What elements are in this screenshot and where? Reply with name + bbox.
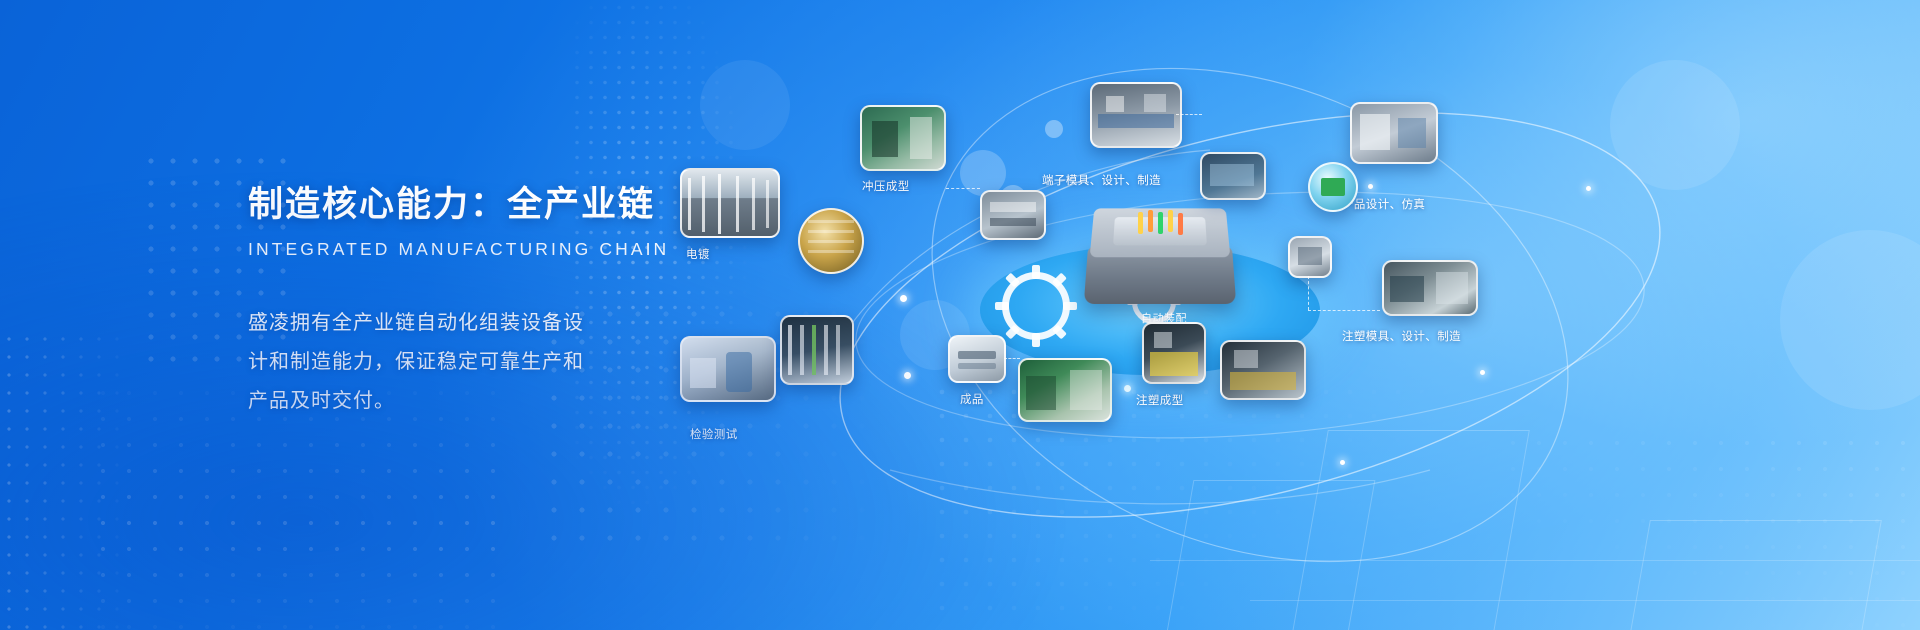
node-label: 检验测试 bbox=[690, 426, 776, 442]
node-photo bbox=[680, 336, 776, 402]
connector-dashed bbox=[1004, 358, 1020, 359]
horizon-line bbox=[1250, 600, 1920, 601]
node-label: 产品设计、仿真 bbox=[1342, 196, 1438, 212]
manufacturing-chain-diagram: 自动装配 电镀 冲压成型 bbox=[780, 40, 1920, 590]
node-photo bbox=[1090, 82, 1182, 148]
hero-paragraph-line: 产品及时交付。 bbox=[248, 382, 680, 421]
node-injection-forming-detail[interactable] bbox=[1220, 340, 1306, 400]
node-photo bbox=[860, 105, 946, 171]
node-injection-mould[interactable]: 注塑模具、设计、制造 bbox=[1382, 260, 1478, 344]
orbit-node-dot bbox=[900, 295, 907, 302]
node-stamping[interactable]: 冲压成型 bbox=[860, 105, 946, 194]
node-inspection[interactable]: 检验测试 bbox=[680, 336, 776, 442]
connector-dashed bbox=[1308, 276, 1309, 310]
assembly-mould-graphic: 自动装配 bbox=[1080, 190, 1240, 315]
orbit-node-dot bbox=[1586, 186, 1591, 191]
node-terminal-mould-detail[interactable] bbox=[1200, 152, 1266, 200]
mould-pin bbox=[1168, 210, 1173, 232]
mould-pin bbox=[1148, 210, 1153, 232]
connector-dashed bbox=[1308, 310, 1380, 311]
node-photo bbox=[1382, 260, 1478, 316]
node-photo bbox=[680, 168, 780, 238]
node-label: 注塑成型 bbox=[1136, 392, 1206, 408]
node-finished-goods[interactable]: 成品 bbox=[948, 335, 1006, 407]
mould-pin bbox=[1178, 213, 1183, 235]
node-stamping-detail[interactable] bbox=[980, 190, 1046, 240]
hero-paragraph: 盛凌拥有全产业链自动化组装设备设 计和制造能力，保证稳定可靠生产和 产品及时交付… bbox=[248, 304, 680, 421]
node-product-design[interactable]: 产品设计、仿真 bbox=[1350, 102, 1438, 212]
node-label: 冲压成型 bbox=[862, 178, 946, 194]
node-inspection-detail[interactable] bbox=[780, 315, 854, 385]
connector-dashed bbox=[946, 188, 980, 189]
orbit-node-dot bbox=[1340, 460, 1345, 465]
bokeh-circle bbox=[700, 60, 790, 150]
node-injection-mould-detail[interactable] bbox=[1288, 236, 1332, 278]
node-label: 端子模具、设计、制造 bbox=[1042, 172, 1182, 188]
connector-dashed bbox=[1176, 114, 1202, 115]
node-label: 电镀 bbox=[686, 246, 780, 262]
hero-copy: 制造核心能力：全产业链 INTEGRATED MANUFACTURING CHA… bbox=[248, 186, 678, 421]
node-label: 成品 bbox=[960, 391, 1006, 407]
page-title: 制造核心能力：全产业链 bbox=[248, 186, 678, 225]
node-label: 注塑模具、设计、制造 bbox=[1342, 328, 1478, 344]
page-subtitle: INTEGRATED MANUFACTURING CHAIN bbox=[248, 239, 678, 260]
orbit-node-dot bbox=[1480, 370, 1485, 375]
mould-pin bbox=[1138, 212, 1143, 234]
orbit-node-dot bbox=[904, 372, 911, 379]
dot-grid-decoration bbox=[0, 330, 120, 630]
node-plating-detail[interactable] bbox=[798, 208, 864, 274]
orbit-node-dot bbox=[1124, 385, 1131, 392]
node-plating[interactable]: 电镀 bbox=[680, 168, 780, 262]
banner-hero: 制造核心能力：全产业链 INTEGRATED MANUFACTURING CHA… bbox=[0, 0, 1920, 630]
node-injection-forming[interactable]: 注塑成型 bbox=[1142, 322, 1206, 408]
node-photo bbox=[948, 335, 1006, 383]
node-finished-goods-detail[interactable] bbox=[1018, 358, 1112, 422]
gear-icon bbox=[1002, 272, 1070, 340]
mould-pin bbox=[1158, 212, 1163, 234]
hero-paragraph-line: 盛凌拥有全产业链自动化组装设备设 bbox=[248, 304, 680, 343]
node-photo bbox=[1142, 322, 1206, 384]
node-terminal-mould[interactable]: 端子模具、设计、制造 bbox=[1090, 82, 1182, 188]
node-product-design-icon[interactable] bbox=[1308, 162, 1358, 212]
hero-paragraph-line: 计和制造能力，保证稳定可靠生产和 bbox=[248, 343, 680, 382]
node-photo bbox=[1350, 102, 1438, 164]
